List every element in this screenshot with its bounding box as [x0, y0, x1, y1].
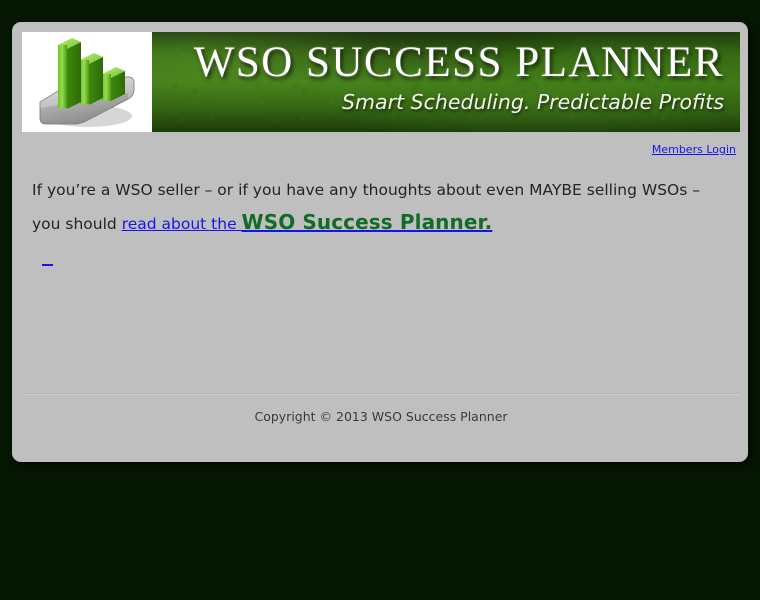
copyright-text: Copyright © 2013 WSO Success Planner	[22, 409, 740, 424]
content-area: Members Login If you’re a WSO seller – o…	[22, 140, 740, 402]
intro-line-2-prefix: you should	[32, 215, 122, 233]
logo-plate	[22, 32, 152, 132]
intro-copy: If you’re a WSO seller – or if you have …	[22, 174, 740, 277]
main-panel: WSO SUCCESS PLANNER Smart Scheduling. Pr…	[12, 22, 748, 462]
read-about-link[interactable]: read about the	[122, 215, 237, 233]
empty-link-row	[32, 240, 740, 277]
page-root: WSO SUCCESS PLANNER Smart Scheduling. Pr…	[0, 0, 760, 600]
members-login-row: Members Login	[22, 140, 740, 162]
footer-divider	[22, 393, 740, 395]
banner-title: WSO SUCCESS PLANNER	[194, 38, 724, 88]
site-footer: Copyright © 2013 WSO Success Planner	[22, 393, 740, 424]
intro-line-1: If you’re a WSO seller – or if you have …	[32, 174, 740, 206]
members-login-link[interactable]: Members Login	[652, 143, 736, 156]
site-banner: WSO SUCCESS PLANNER Smart Scheduling. Pr…	[22, 32, 740, 132]
bar-chart-3d-icon	[28, 36, 146, 130]
empty-stub-link[interactable]	[42, 254, 53, 266]
intro-line-2: you should read about the WSO Success Pl…	[32, 206, 740, 240]
wso-success-planner-link[interactable]: WSO Success Planner.	[242, 210, 493, 234]
banner-tagline: Smart Scheduling. Predictable Profits	[194, 89, 724, 116]
banner-wordmark: WSO SUCCESS PLANNER Smart Scheduling. Pr…	[194, 38, 724, 116]
